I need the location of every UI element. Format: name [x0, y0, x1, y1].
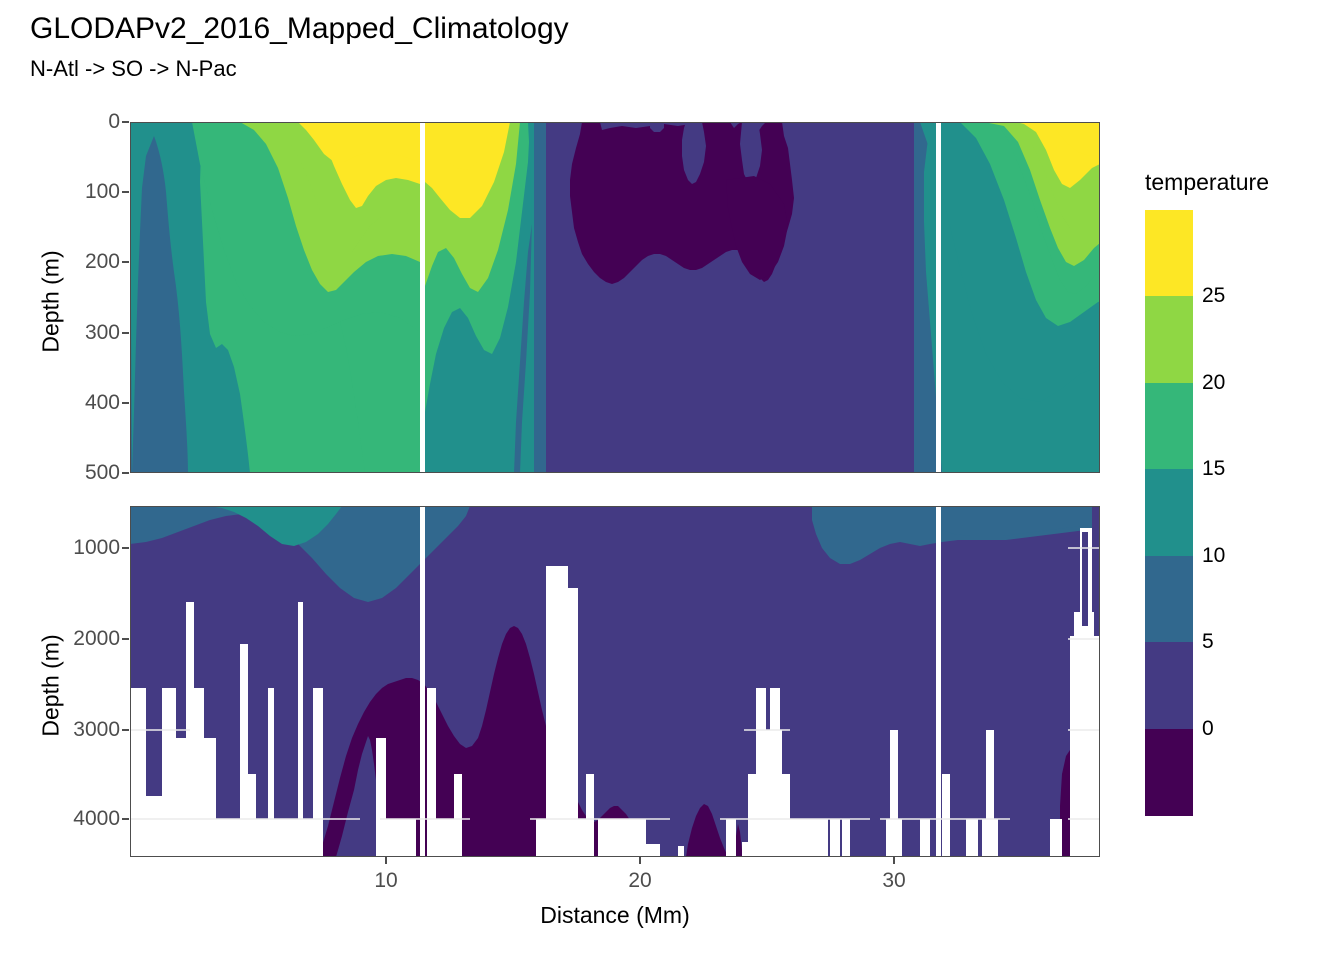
y-tick-label: 3000 [12, 718, 120, 742]
colorbar-band [1145, 556, 1193, 643]
y-tickmark [122, 638, 129, 640]
y-tick-label: 4000 [12, 807, 120, 831]
colorbar-tick-label: 15 [1202, 457, 1225, 481]
colorbar-tick-label: 5 [1202, 630, 1214, 654]
y-tick-label: 500 [12, 461, 120, 485]
y-tick-label: 0 [12, 110, 120, 134]
x-tickmark [893, 857, 895, 864]
x-tickmark [385, 857, 387, 864]
upper-ocean-contours [130, 122, 1100, 473]
page-subtitle: N-Atl -> SO -> N-Pac [30, 56, 237, 82]
colorbar-band [1145, 210, 1193, 297]
colorbar-band [1145, 642, 1193, 729]
y-tickmark [122, 191, 129, 193]
colorbar-band [1145, 469, 1193, 556]
y-tickmark [122, 332, 129, 334]
y-tickmark [122, 547, 129, 549]
y-tickmark [122, 472, 129, 474]
deep-ocean-contours [130, 506, 1100, 857]
colorbar-band [1145, 383, 1193, 470]
y-axis-title-top: Depth (m) [38, 207, 65, 397]
colorbar-band [1145, 296, 1193, 383]
colorbar-legend: temperature 2520151050 [1140, 160, 1340, 860]
x-tick-label: 30 [882, 869, 905, 893]
y-tick-label: 400 [12, 391, 120, 415]
colorbar-tick-label: 10 [1202, 544, 1225, 568]
colorbar-tick-label: 0 [1202, 717, 1214, 741]
y-tickmark [122, 729, 129, 731]
y-tickmark [122, 261, 129, 263]
y-tick-label: 300 [12, 321, 120, 345]
y-tickmark [122, 818, 129, 820]
x-tick-label: 20 [628, 869, 651, 893]
x-tickmark [639, 857, 641, 864]
y-tick-label: 200 [12, 250, 120, 274]
deep-ocean-panel [130, 506, 1100, 857]
legend-title: temperature [1145, 169, 1269, 196]
y-tick-label: 2000 [12, 627, 120, 651]
page-title: GLODAPv2_2016_Mapped_Climatology [30, 12, 569, 46]
colorbar-tick-label: 25 [1202, 284, 1225, 308]
y-tick-label: 1000 [12, 536, 120, 560]
y-tick-label: 100 [12, 180, 120, 204]
figure-canvas: GLODAPv2_2016_Mapped_Climatology N-Atl -… [0, 0, 1344, 960]
colorbar-gradient[interactable] [1145, 210, 1193, 815]
upper-ocean-panel [130, 122, 1100, 473]
y-axis-title-bottom: Depth (m) [38, 591, 65, 781]
x-tick-label: 10 [374, 869, 397, 893]
x-axis-title: Distance (Mm) [540, 902, 690, 929]
colorbar-band [1145, 729, 1193, 816]
y-tickmark [122, 402, 129, 404]
colorbar-tick-label: 20 [1202, 371, 1225, 395]
y-tickmark [122, 121, 129, 123]
